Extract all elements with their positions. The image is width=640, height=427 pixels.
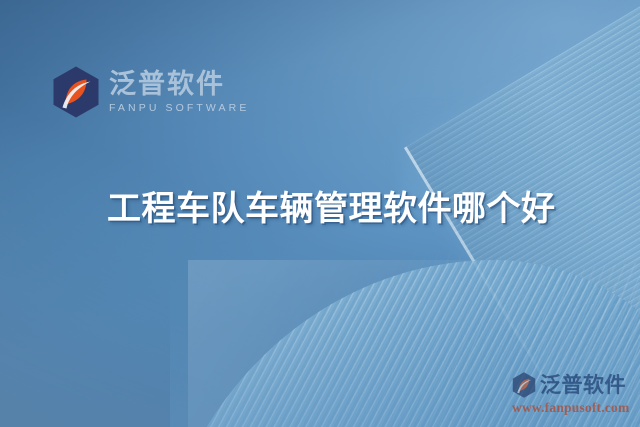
brand-wordmark: 泛普软件 FANPU SOFTWARE [109, 71, 249, 114]
watermark-name-cn: 泛普软件 [540, 375, 626, 396]
banner-canvas: 泛普软件 FANPU SOFTWARE 工程车队车辆管理软件哪个好 泛普软件 w… [0, 0, 640, 427]
watermark-url: www.fanpusoft.com [512, 401, 636, 415]
fanpu-hexagon-sail-logo-icon [512, 372, 536, 398]
brand-logo: 泛普软件 FANPU SOFTWARE [52, 66, 249, 118]
watermark-brand-row: 泛普软件 [512, 372, 636, 398]
page-title: 工程车队车辆管理软件哪个好 [107, 181, 556, 230]
brand-name-cn: 泛普软件 [109, 71, 249, 98]
watermark: 泛普软件 www.fanpusoft.com [512, 372, 636, 415]
brand-name-en: FANPU SOFTWARE [109, 103, 249, 114]
fanpu-hexagon-sail-logo-icon [52, 66, 100, 118]
